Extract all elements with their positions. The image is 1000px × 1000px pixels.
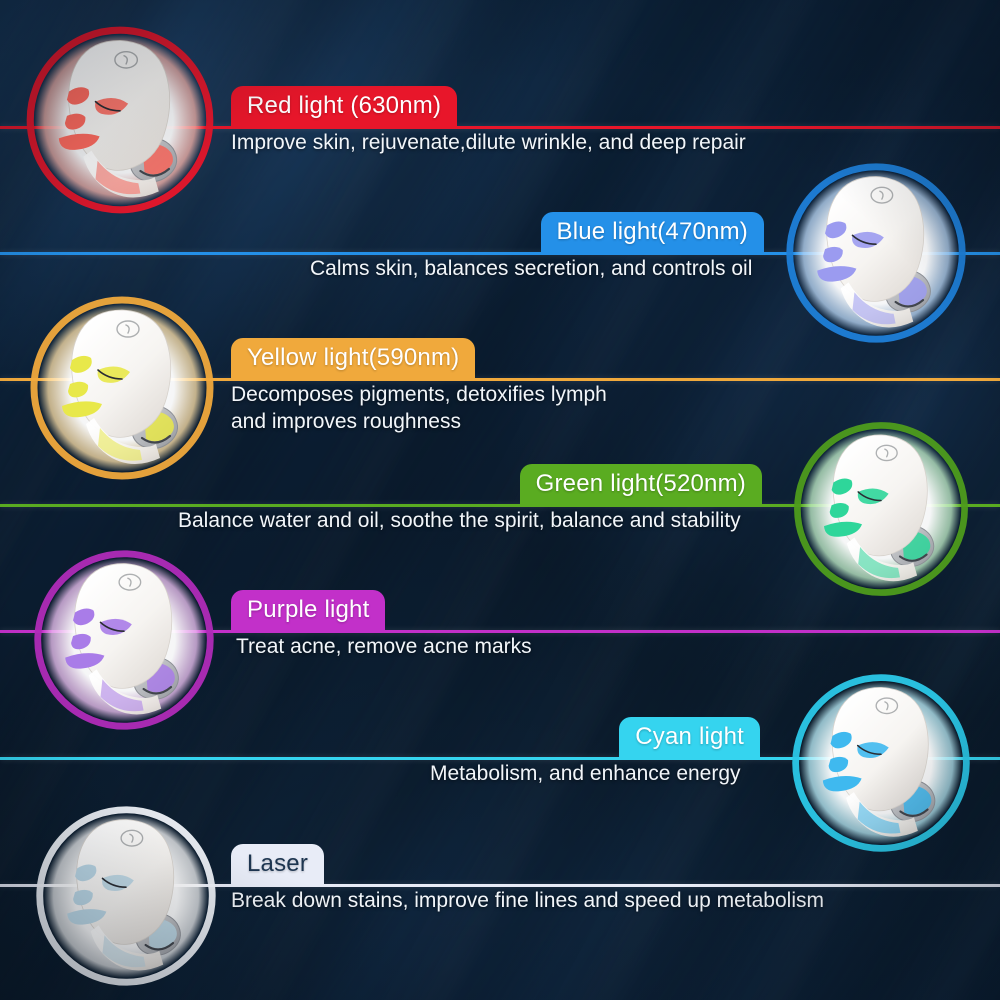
label-laser[interactable]: Laser <box>231 844 324 884</box>
mask-image-laser <box>28 798 224 994</box>
mask-image-yellow <box>22 288 222 488</box>
description-yellow: Decomposes pigments, detoxifies lymph an… <box>231 382 851 436</box>
mask-image-red <box>18 18 222 222</box>
description-green: Balance water and oil, soothe the spirit… <box>178 508 948 535</box>
description-purple: Treat acne, remove acne marks <box>236 634 796 661</box>
label-cyan[interactable]: Cyan light <box>619 717 760 757</box>
description-blue: Calms skin, balances secretion, and cont… <box>310 256 930 283</box>
description-laser: Break down stains, improve fine lines an… <box>231 888 931 915</box>
mask-illustration <box>778 155 974 351</box>
label-red-text: Red light (630nm) <box>247 92 441 120</box>
mask-image-blue <box>778 155 974 351</box>
description-cyan: Metabolism, and enhance energy <box>430 761 950 788</box>
label-laser-text: Laser <box>247 850 308 878</box>
label-green[interactable]: Green light(520nm) <box>520 464 762 504</box>
label-yellow[interactable]: Yellow light(590nm) <box>231 338 475 378</box>
label-yellow-text: Yellow light(590nm) <box>247 344 459 372</box>
label-purple-text: Purple light <box>247 596 369 624</box>
mask-illustration <box>28 798 224 994</box>
label-green-text: Green light(520nm) <box>536 470 746 498</box>
mask-illustration <box>26 542 222 738</box>
label-blue[interactable]: Blue light(470nm) <box>541 212 765 252</box>
label-red[interactable]: Red light (630nm) <box>231 86 457 126</box>
mask-illustration <box>22 288 222 488</box>
label-cyan-text: Cyan light <box>635 723 744 751</box>
label-purple[interactable]: Purple light <box>231 590 385 630</box>
label-blue-text: Blue light(470nm) <box>557 218 749 246</box>
mask-illustration <box>18 18 222 222</box>
description-red: Improve skin, rejuvenate,dilute wrinkle,… <box>231 130 951 157</box>
infographic-stage: Red light (630nm) Improve skin, rejuvena… <box>0 0 1000 1000</box>
mask-image-purple <box>26 542 222 738</box>
